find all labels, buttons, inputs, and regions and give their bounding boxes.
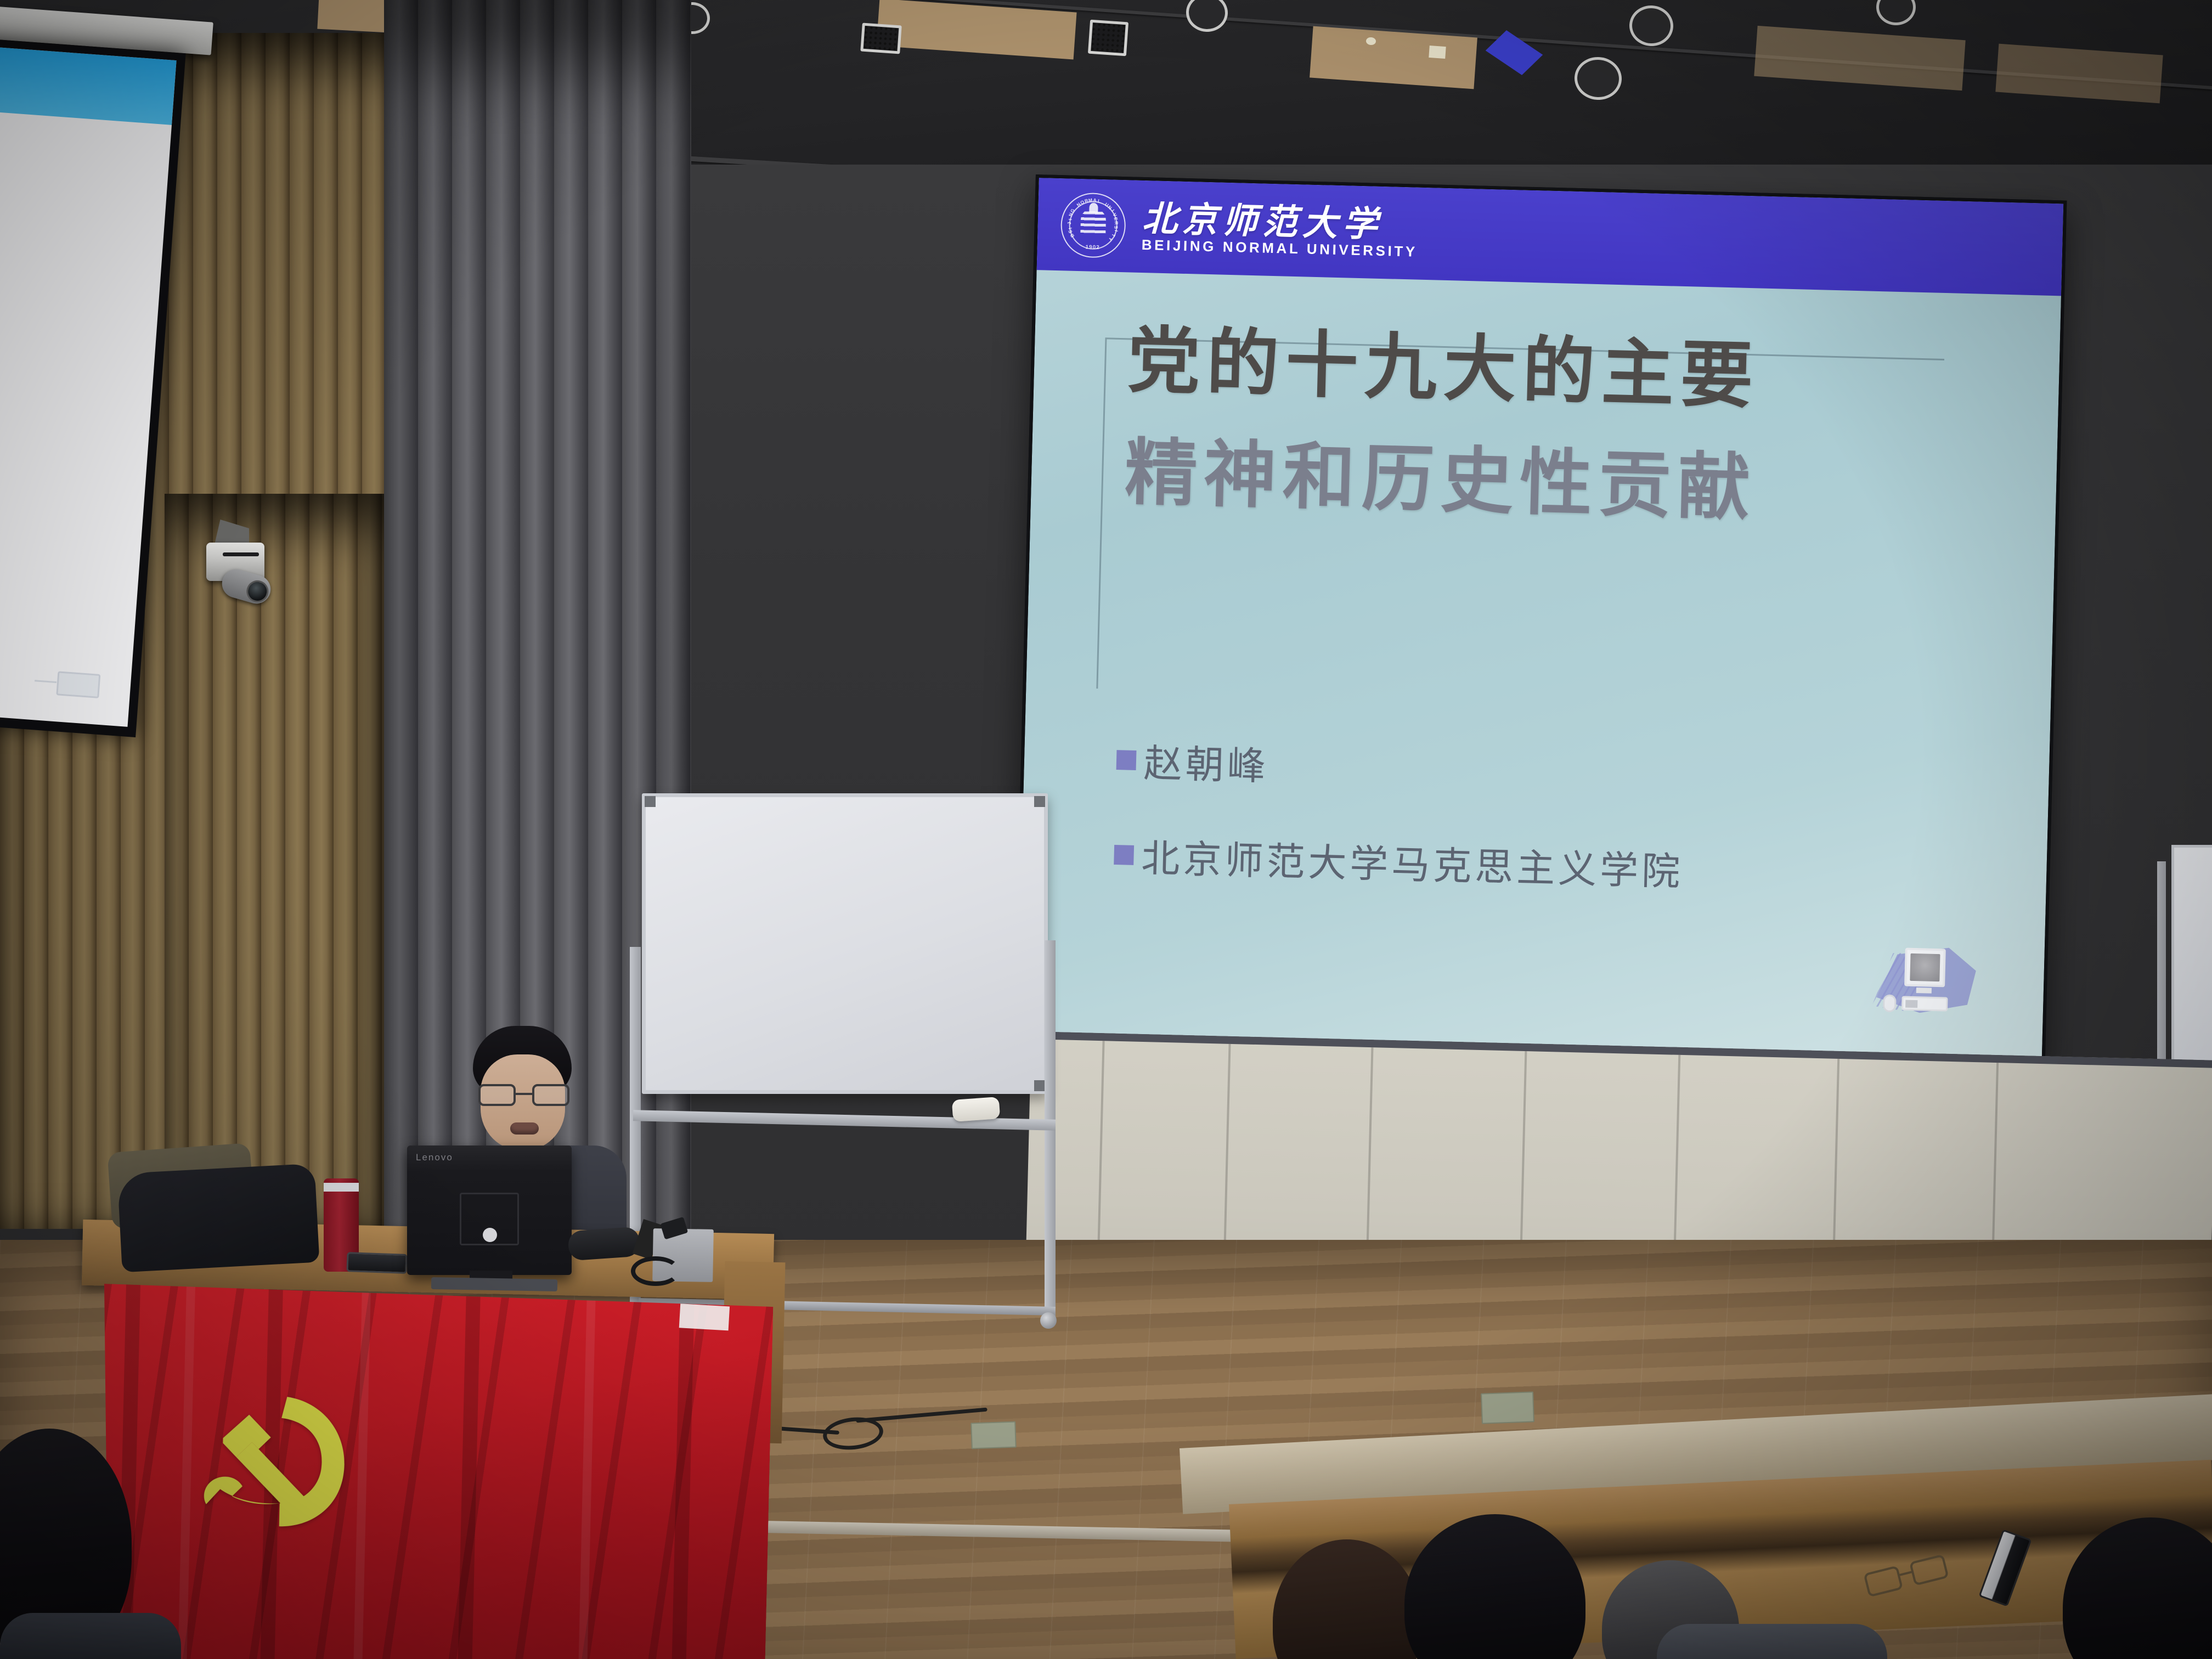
bullet-text: 赵朝峰 — [1143, 732, 1269, 791]
seal-core — [1080, 208, 1106, 240]
left-slide-top-band — [0, 41, 177, 125]
stage-light — [1628, 4, 1675, 47]
monitor-brand-label: Lenovo — [416, 1152, 453, 1163]
stage-light — [1573, 55, 1623, 101]
ceiling-panel — [876, 0, 1076, 59]
seal-year: 1902 — [1085, 244, 1100, 251]
floor-outlet-box — [970, 1421, 1017, 1449]
floor-outlet-box — [1481, 1391, 1534, 1424]
audience-shoulder — [0, 1613, 181, 1659]
clipart-monitor-base — [1916, 988, 1932, 994]
ceiling-vent — [860, 23, 901, 54]
presentation-slide: BEIJING NORMAL UNIVERSITY 1902 北京师范大学 BE… — [1017, 178, 2063, 1061]
whiteboard-caster — [1040, 1312, 1057, 1329]
slide-title-line-2: 精神和历史性贡献 — [1124, 420, 1758, 542]
stage-light — [1876, 0, 1916, 25]
audience-shoulder — [1657, 1624, 1887, 1659]
left-slide-corner-icon — [56, 671, 100, 698]
ceiling-panel — [1995, 44, 2163, 104]
eyeglasses-icon — [478, 1084, 569, 1106]
security-camera-icon — [203, 524, 269, 606]
slide-title-line-1: 党的十九大的主要 — [1126, 308, 1761, 430]
whiteboard-post-right — [1045, 940, 1056, 1324]
list-item: 赵朝峰 — [1116, 732, 1686, 802]
red-table-banner — [95, 1284, 774, 1659]
banner-tag — [679, 1304, 730, 1330]
left-slide-text: 要大 — [0, 142, 35, 325]
ceiling-panel — [1754, 26, 1965, 91]
hammer-and-sickle-icon — [180, 1387, 359, 1545]
winter-coat[interactable] — [117, 1164, 320, 1273]
camera-lens — [219, 566, 274, 607]
clipart-mouse — [1883, 995, 1897, 1013]
list-item: 北京师范大学马克思主义学院 — [1113, 827, 1684, 896]
presenter-mouth — [510, 1122, 539, 1135]
whiteboard-corner — [1034, 796, 1045, 807]
ceiling-vent — [1088, 20, 1128, 57]
bullet-square-icon — [1114, 845, 1134, 865]
stage-light — [1185, 0, 1229, 33]
photo-scene: 要大 BEIJING NORMAL UNIVERSITY 1902 北京师范大学… — [0, 0, 2212, 1659]
wood-slat-wall-center — [165, 494, 395, 1229]
bullet-text: 北京师范大学马克思主义学院 — [1141, 827, 1684, 896]
floor-cable — [856, 1408, 988, 1423]
microphone[interactable] — [567, 1227, 640, 1261]
whiteboard-corner — [1034, 1080, 1045, 1091]
ceiling-panel — [1310, 26, 1477, 89]
clipart-monitor — [1904, 948, 1946, 988]
desk-cable — [631, 1256, 680, 1286]
main-projection-screen: BEIJING NORMAL UNIVERSITY 1902 北京师范大学 BE… — [1014, 174, 2067, 1064]
computer-clipart-icon — [1878, 940, 1979, 1025]
desktop-monitor[interactable]: Lenovo — [407, 1145, 572, 1275]
university-wordmark: 北京师范大学 BEIJING NORMAL UNIVERSITY — [1141, 201, 1418, 259]
monitor-base — [431, 1277, 557, 1291]
eraser-cloth[interactable] — [952, 1097, 1001, 1122]
slide-bullet-list: 赵朝峰 北京师范大学马克思主义学院 — [1113, 732, 1686, 896]
monitor-cap — [483, 1228, 497, 1242]
clipart-keyboard — [1901, 996, 1948, 1011]
bnu-seal-icon: BEIJING NORMAL UNIVERSITY 1902 — [1060, 192, 1126, 258]
whiteboard-corner — [645, 796, 656, 807]
ceiling-sticker — [1429, 46, 1446, 59]
bullet-square-icon — [1116, 750, 1137, 770]
whiteboard-surface[interactable] — [642, 793, 1048, 1094]
smartphone-on-desk[interactable] — [346, 1252, 407, 1274]
slide-body: 党的十九大的主要 精神和历史性贡献 赵朝峰 北京师范大学马克思主义学院 — [1017, 270, 2061, 1061]
